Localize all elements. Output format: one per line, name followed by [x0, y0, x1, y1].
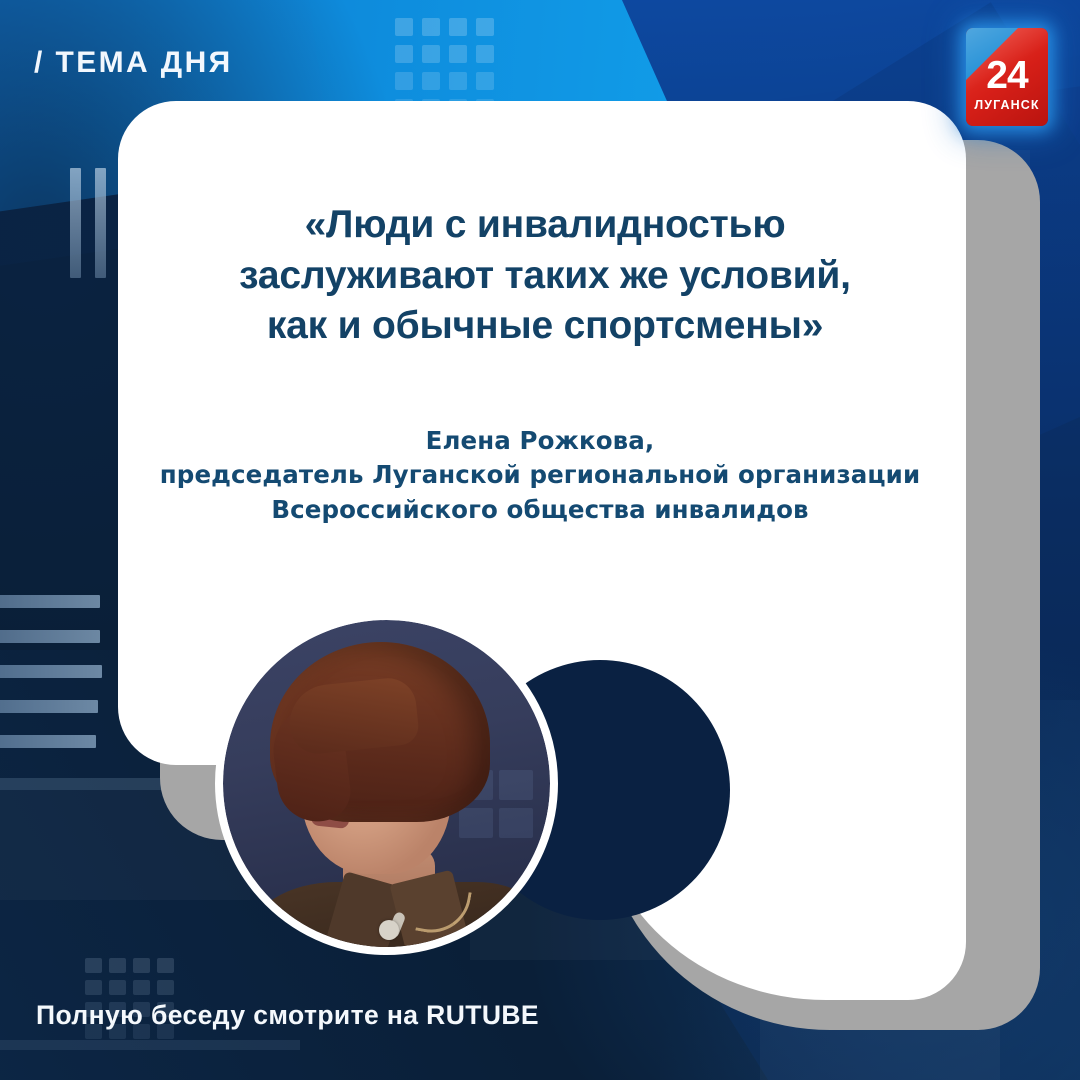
studio-backdrop-panel: [459, 808, 493, 838]
speaker-title-line: председатель Луганской региональной орга…: [120, 458, 960, 492]
speaker-photo: [223, 620, 550, 947]
quote-card-graphic: «Люди с инвалидностью заслуживают таких …: [0, 0, 1080, 1080]
speaker-title-line: Всероссийского общества инвалидов: [120, 493, 960, 527]
logo-city: ЛУГАНСК: [966, 98, 1048, 112]
speaker-name: Елена Рожкова,: [120, 424, 960, 458]
quote-line: как и обычные спортсмены»: [150, 301, 940, 352]
logo-number: 24: [966, 56, 1048, 95]
speaker-microphone: [379, 920, 399, 940]
quote-line: заслуживают таких же условий,: [150, 251, 940, 302]
quote-attribution: Елена Рожкова, председатель Луганской ре…: [120, 424, 960, 527]
channel-logo: 24 ЛУГАНСК: [966, 28, 1048, 126]
quote-text: «Люди с инвалидностью заслуживают таких …: [150, 200, 940, 352]
speaker-avatar: [215, 612, 558, 955]
footer-caption: Полную беседу смотрите на RUTUBE: [36, 1000, 539, 1031]
section-kicker: / ТЕМА ДНЯ: [34, 46, 233, 80]
studio-backdrop-panel: [499, 770, 533, 800]
studio-backdrop-panel: [499, 808, 533, 838]
quote-line: «Люди с инвалидностью: [150, 200, 940, 251]
